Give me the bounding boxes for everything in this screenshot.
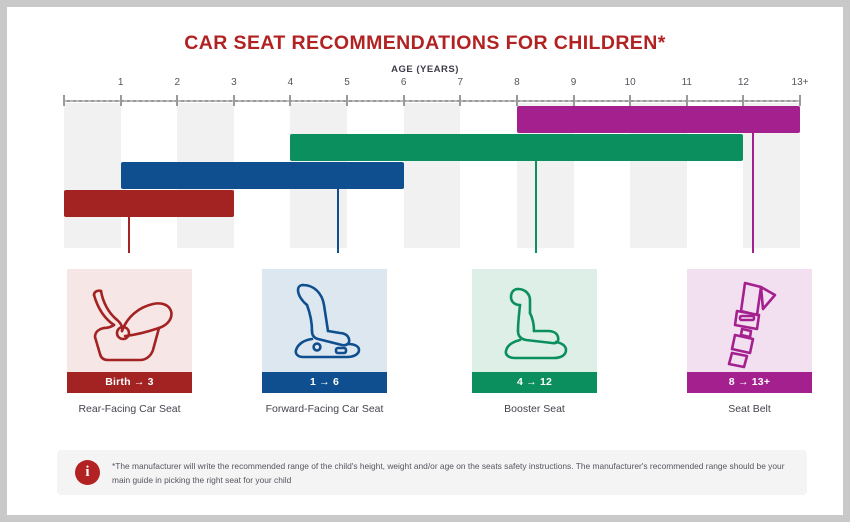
axis-tick-label: 8 bbox=[514, 77, 520, 88]
card-caption: Rear-Facing Car Seat bbox=[67, 403, 192, 415]
axis-tick-label: 5 bbox=[344, 77, 350, 88]
card-caption: Booster Seat bbox=[472, 403, 597, 415]
axis-dashes bbox=[64, 100, 800, 102]
card-group: Birth → 3Rear-Facing Car Seat 1 → 6Forwa… bbox=[57, 269, 807, 419]
axis-tick bbox=[686, 95, 688, 106]
axis-tick bbox=[742, 95, 744, 106]
card-caption: Forward-Facing Car Seat bbox=[262, 403, 387, 415]
axis-tick bbox=[799, 95, 801, 106]
axis-tick-label: 4 bbox=[288, 77, 294, 88]
info-icon: i bbox=[75, 460, 100, 485]
timeline-chart: 12345678910111213+ bbox=[57, 75, 807, 255]
axis-tick bbox=[629, 95, 631, 106]
card-range-badge: 4 → 12 bbox=[472, 372, 597, 393]
axis-tick bbox=[403, 95, 405, 106]
axis-band bbox=[64, 103, 121, 248]
axis-tick bbox=[573, 95, 575, 106]
axis-tick-label: 3 bbox=[231, 77, 237, 88]
axis-tick bbox=[233, 95, 235, 106]
bar-connector bbox=[128, 217, 130, 253]
rear-facing-car-seat-icon bbox=[67, 269, 192, 372]
axis-tick-label: 2 bbox=[174, 77, 180, 88]
card-rear-facing-car-seat[interactable]: Birth → 3Rear-Facing Car Seat bbox=[67, 269, 192, 415]
infographic-card: CAR SEAT RECOMMENDATIONS FOR CHILDREN* A… bbox=[7, 7, 843, 515]
axis-tick-label: 7 bbox=[458, 77, 464, 88]
bar-forward-facing-car-seat bbox=[121, 162, 404, 189]
bar-seat-belt bbox=[517, 106, 800, 133]
footnote-text: *The manufacturer will write the recomme… bbox=[112, 460, 792, 488]
bar-connector bbox=[752, 133, 754, 253]
card-forward-facing-car-seat[interactable]: 1 → 6Forward-Facing Car Seat bbox=[262, 269, 387, 415]
axis-tick bbox=[120, 95, 122, 106]
axis-tick-label: 6 bbox=[401, 77, 407, 88]
axis-tick bbox=[63, 95, 65, 106]
axis-tick-label: 13+ bbox=[792, 77, 809, 88]
footnote-panel: i *The manufacturer will write the recom… bbox=[57, 450, 807, 495]
card-booster-seat[interactable]: 4 → 12Booster Seat bbox=[472, 269, 597, 415]
bar-rear-facing-car-seat bbox=[64, 190, 234, 217]
axis-tick bbox=[289, 95, 291, 106]
card-range-badge: 8 → 13+ bbox=[687, 372, 812, 393]
axis-tick-label: 11 bbox=[682, 77, 692, 88]
axis-title: AGE (YEARS) bbox=[7, 64, 843, 75]
axis-tick bbox=[176, 95, 178, 106]
forward-facing-car-seat-icon bbox=[262, 269, 387, 372]
page-title: CAR SEAT RECOMMENDATIONS FOR CHILDREN* bbox=[7, 32, 843, 55]
axis-tick-label: 12 bbox=[738, 77, 749, 88]
bar-connector bbox=[535, 161, 537, 253]
axis-tick-label: 1 bbox=[118, 77, 124, 88]
booster-seat-icon bbox=[472, 269, 597, 372]
card-range-badge: 1 → 6 bbox=[262, 372, 387, 393]
axis-tick-label: 10 bbox=[625, 77, 636, 88]
axis-tick-label: 9 bbox=[571, 77, 577, 88]
card-seat-belt[interactable]: 8 → 13+Seat Belt bbox=[687, 269, 812, 415]
axis-tick bbox=[346, 95, 348, 106]
axis-tick bbox=[459, 95, 461, 106]
seat-belt-icon bbox=[687, 269, 812, 372]
axis-tick bbox=[516, 95, 518, 106]
card-range-badge: Birth → 3 bbox=[67, 372, 192, 393]
bar-connector bbox=[337, 189, 339, 253]
card-caption: Seat Belt bbox=[687, 403, 812, 415]
axis-band bbox=[404, 103, 461, 248]
bar-booster-seat bbox=[290, 134, 743, 161]
